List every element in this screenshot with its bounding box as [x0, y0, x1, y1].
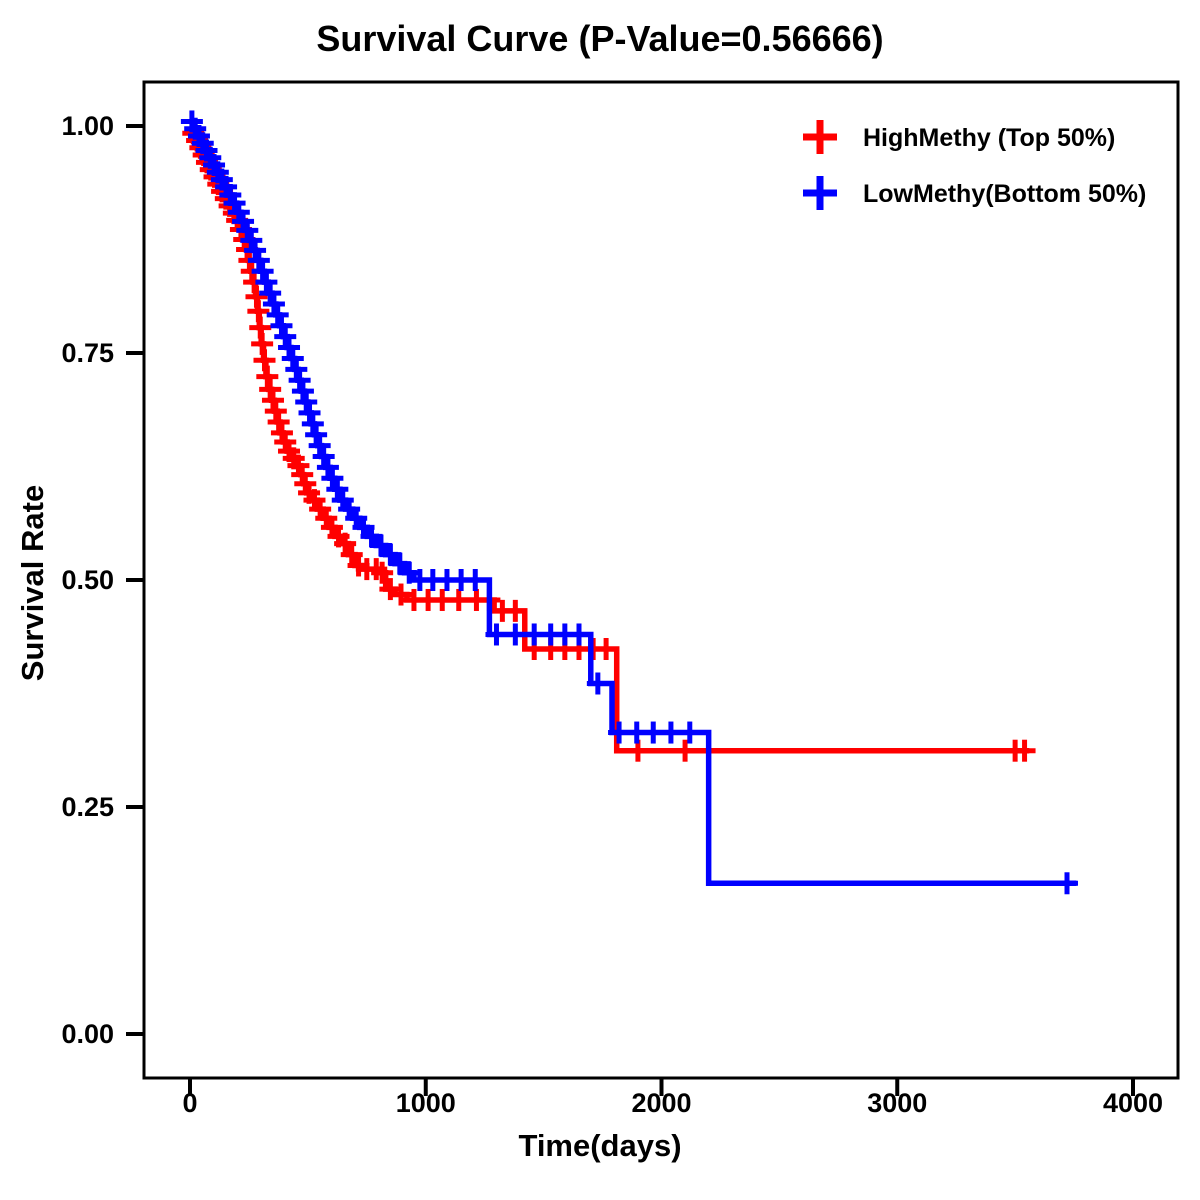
x-tick-label: 2000	[631, 1088, 691, 1118]
y-axis-ticks: 0.000.250.500.751.00	[61, 111, 144, 1049]
x-tick-label: 4000	[1103, 1088, 1163, 1118]
plot-frame	[144, 82, 1178, 1078]
legend-label: HighMethy (Top 50%)	[863, 124, 1115, 152]
legend-item[interactable]: HighMethy (Top 50%)	[803, 120, 1115, 154]
y-tick-label: 0.25	[61, 792, 114, 822]
x-tick-label: 1000	[396, 1088, 456, 1118]
series-high-methy	[182, 122, 1035, 761]
chart-legend[interactable]: HighMethy (Top 50%)LowMethy(Bottom 50%)	[803, 120, 1146, 210]
x-tick-label: 0	[182, 1088, 197, 1118]
legend-label: LowMethy(Bottom 50%)	[863, 180, 1146, 208]
series-layer	[181, 110, 1078, 894]
x-axis-ticks: 01000200030004000	[182, 1078, 1163, 1118]
survival-curve-figure: Survival Curve (P-Value=0.56666) Surviva…	[0, 0, 1200, 1200]
y-tick-label: 1.00	[61, 111, 114, 141]
y-tick-label: 0.00	[61, 1019, 114, 1049]
censor-marks	[182, 122, 1035, 761]
x-tick-label: 3000	[867, 1088, 927, 1118]
legend-item[interactable]: LowMethy(Bottom 50%)	[803, 176, 1146, 210]
plot-canvas: 01000200030004000 0.000.250.500.751.00 H…	[0, 0, 1200, 1200]
y-tick-label: 0.50	[61, 565, 114, 595]
y-tick-label: 0.75	[61, 338, 114, 368]
